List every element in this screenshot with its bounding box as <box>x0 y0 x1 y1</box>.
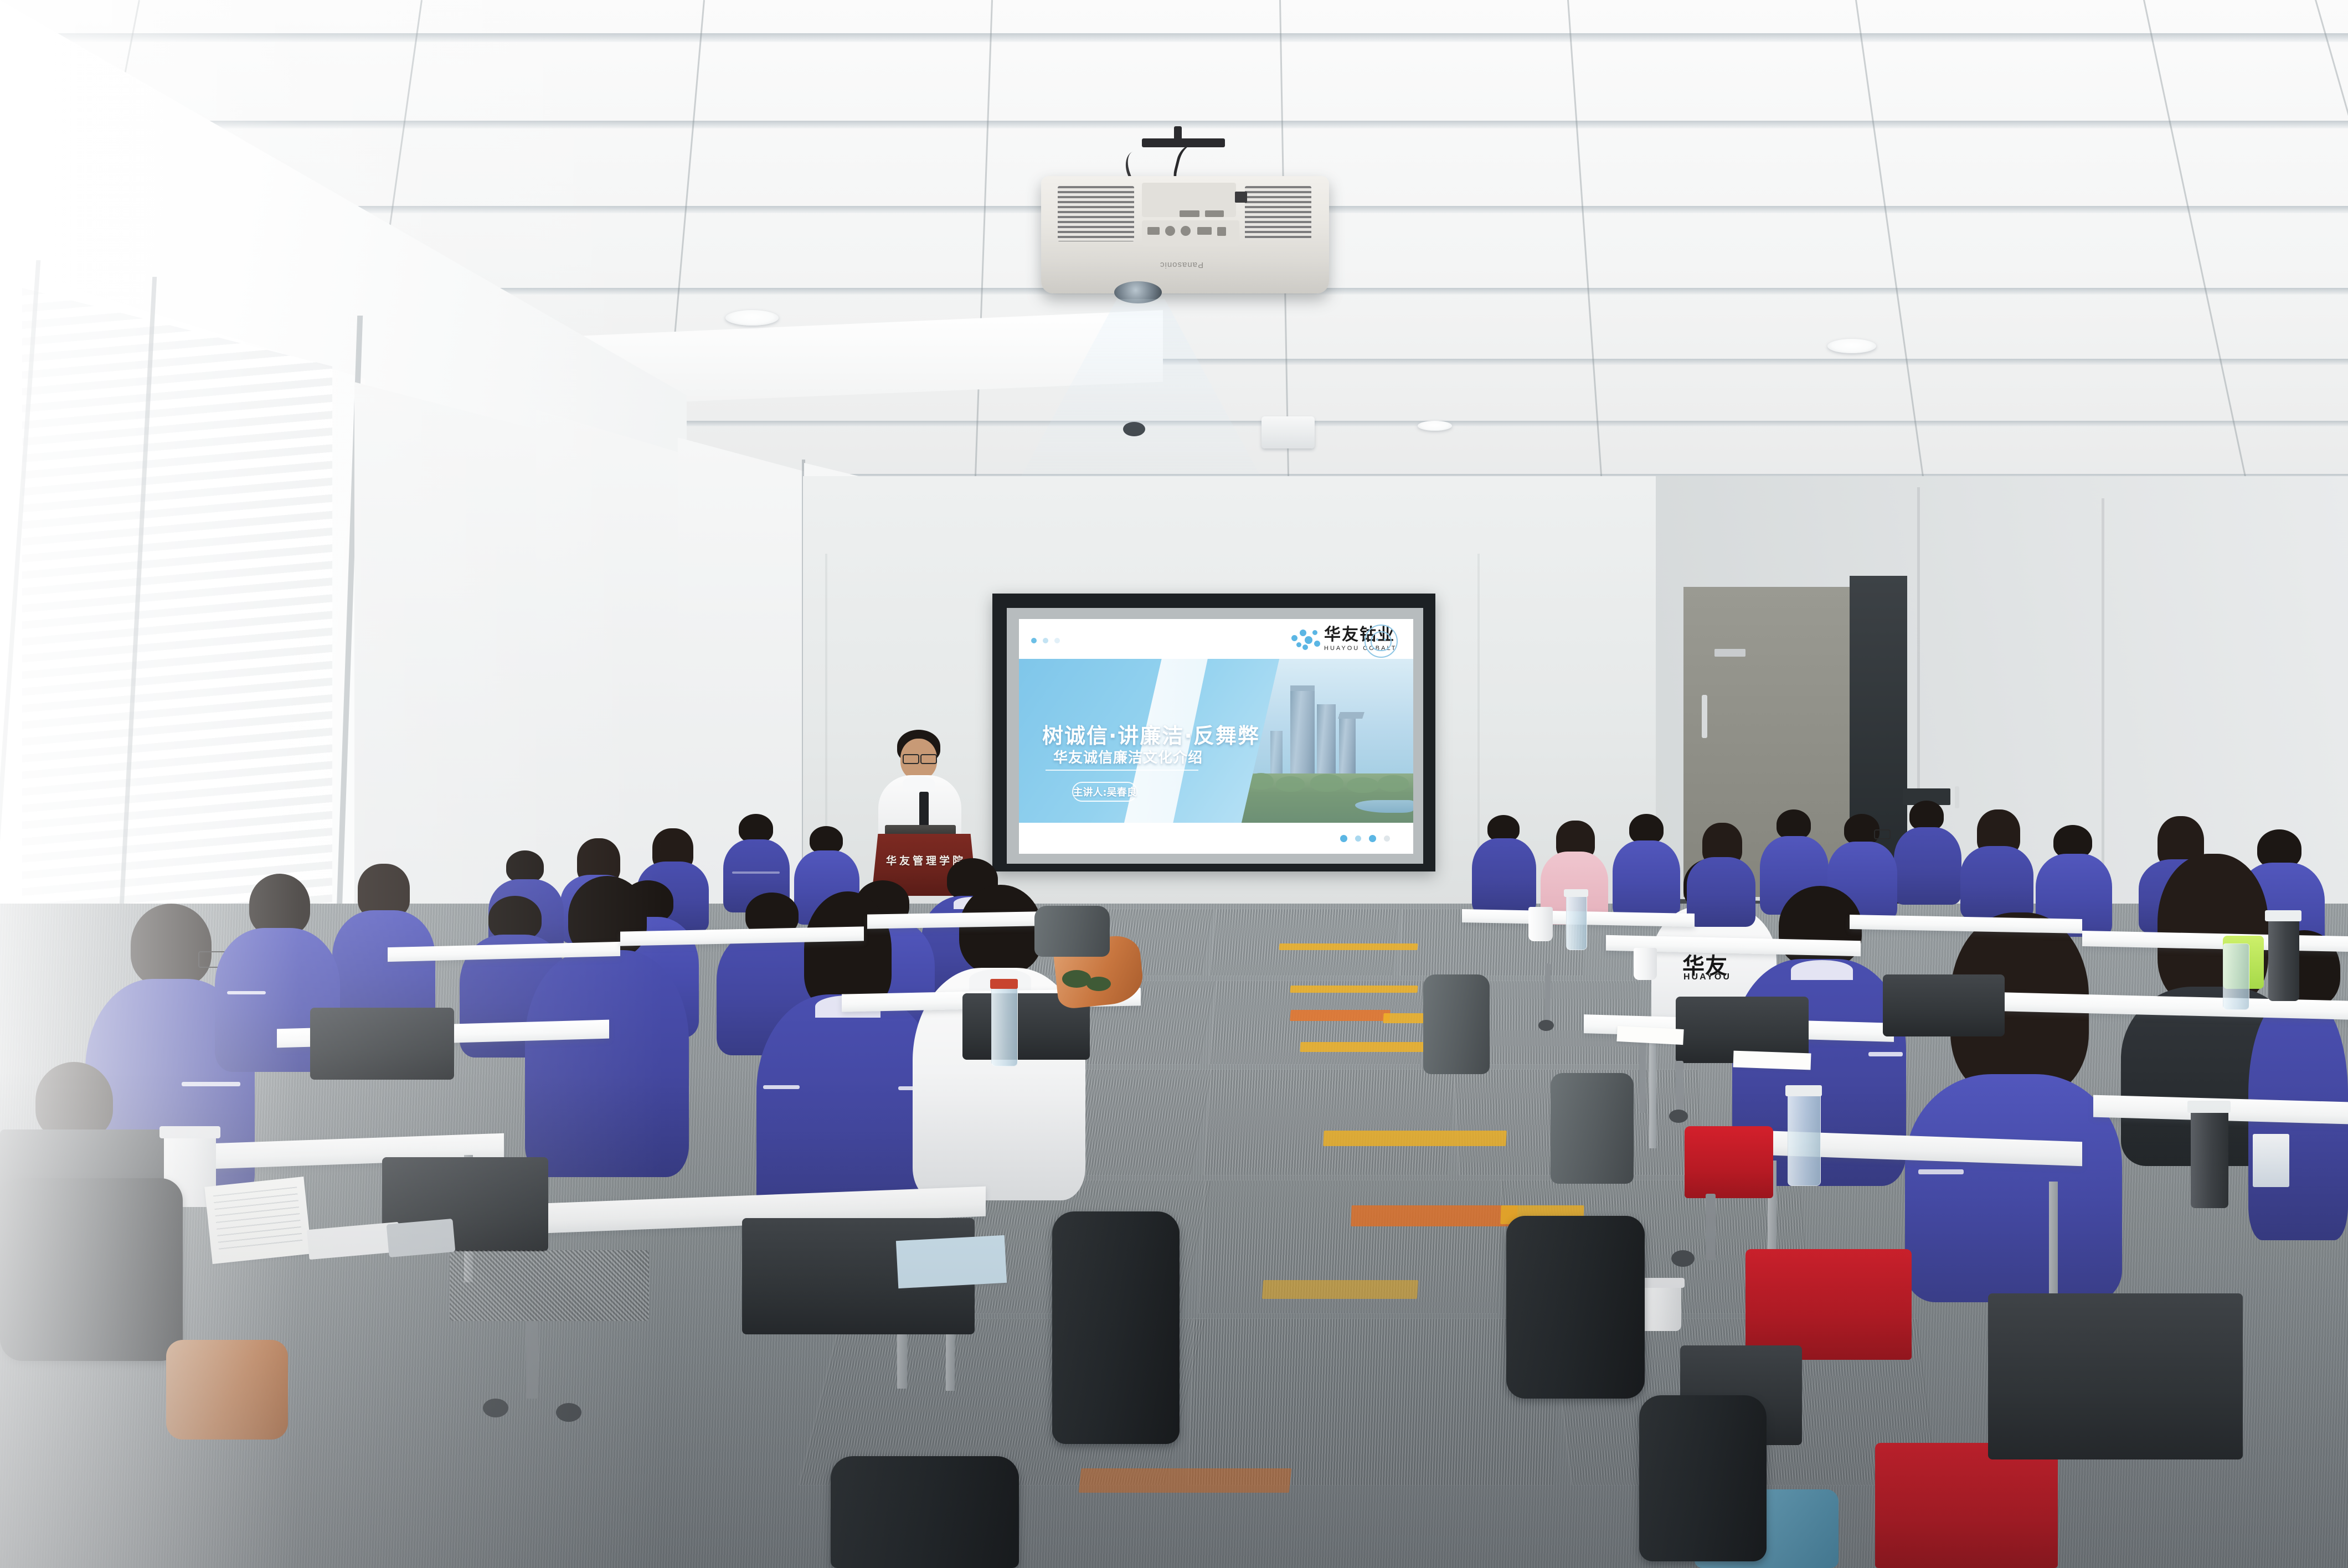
water-bottle-dark <box>2191 1108 2228 1208</box>
bottle-cap <box>1785 1085 1822 1096</box>
grey-bag <box>1034 906 1110 957</box>
tower-building <box>1290 689 1315 777</box>
podium-top-surface <box>885 825 956 835</box>
backpack <box>1506 1216 1645 1399</box>
chair-red[interactable] <box>1745 1249 1912 1360</box>
attendee <box>331 864 436 1024</box>
glasses-icon <box>1874 829 1891 839</box>
header-dot <box>1054 638 1060 643</box>
chair-post <box>526 1321 538 1399</box>
juice-carton <box>2253 1134 2289 1187</box>
chair-post <box>1639 1041 1646 1113</box>
table-leg <box>1649 1038 1656 1148</box>
slide-footer-dots <box>1340 835 1390 842</box>
footer-dot <box>1384 835 1390 842</box>
ceiling-projector: Panasonic <box>1041 176 1329 293</box>
bouquet-leaf <box>1087 977 1111 991</box>
projector-brand-label: Panasonic <box>1160 260 1203 270</box>
recessed-light <box>1418 421 1452 431</box>
tower-building <box>1270 731 1283 777</box>
bottle-cap <box>990 979 1018 989</box>
recessed-light <box>1827 339 1876 353</box>
tower-building <box>1339 714 1356 777</box>
ceiling-speaker-icon <box>1261 416 1315 448</box>
cup-lid <box>159 1126 220 1138</box>
polo-shirt <box>1905 1074 2122 1302</box>
projector-mount <box>1142 138 1225 147</box>
sleeve-piping <box>1918 1169 1964 1174</box>
shirt-collar <box>903 776 935 790</box>
water-bottle <box>1566 895 1587 950</box>
slide-building-photo <box>1242 659 1413 823</box>
carpet-accent-stripe <box>1079 1468 1292 1493</box>
smartphone <box>387 1219 456 1257</box>
paper-cup <box>1528 907 1553 941</box>
water-bottle <box>991 986 1018 1066</box>
chair-red[interactable] <box>1685 1126 1773 1198</box>
bottle-cap <box>2265 910 2301 921</box>
polo-shirt <box>525 950 689 1177</box>
glasses-icon <box>903 754 919 764</box>
attendee <box>1960 809 2035 918</box>
water-bottle <box>2223 943 2249 1010</box>
carpet-accent-stripe <box>1300 1042 1428 1052</box>
table-leg <box>2049 1182 2058 1309</box>
handout-paper <box>1733 1051 1811 1070</box>
backpack <box>1639 1395 1767 1561</box>
chair-post <box>1676 1061 1683 1114</box>
chair-caster <box>1669 1110 1688 1123</box>
footer-dot <box>1340 835 1347 842</box>
slide-divider <box>1046 770 1198 771</box>
attendee-foreground <box>1903 912 2124 1300</box>
projector-mount-arm <box>1174 126 1182 145</box>
water-bottle-dark <box>2268 918 2299 1001</box>
shirt-logo-en: HUAYOU <box>1683 972 1731 982</box>
attendee <box>1471 815 1537 915</box>
floor-bag <box>1551 1073 1634 1184</box>
conference-room-photo: Panasonic <box>0 0 2348 1568</box>
bottle-cap <box>1564 889 1588 897</box>
backpack <box>0 1178 183 1361</box>
orange-bag <box>166 1340 288 1440</box>
window-blinds <box>22 288 332 941</box>
huayou-logo-mark-icon <box>1291 628 1320 651</box>
handout-paper <box>896 1235 1007 1288</box>
chair-caster <box>556 1403 581 1422</box>
chair-post <box>1706 1194 1716 1260</box>
chair-caster <box>1538 1020 1554 1031</box>
tower-building <box>1317 704 1336 777</box>
door-handle[interactable] <box>1702 695 1707 738</box>
carpet-accent-stripe <box>1351 1205 1517 1226</box>
chair-red[interactable] <box>1875 1443 2058 1568</box>
slide-title: 树诚信·讲廉洁·反舞弊 <box>1042 719 1260 749</box>
chair-post <box>1545 963 1551 1024</box>
door-plate <box>1714 649 1745 657</box>
footer-dot <box>1369 835 1376 842</box>
carpet-accent-stripe <box>1262 1280 1418 1299</box>
water-bottle <box>1788 1093 1821 1186</box>
carpet-accent-stripe <box>1290 1010 1391 1021</box>
shirt-collar <box>1791 960 1853 980</box>
glasses-icon <box>920 754 937 764</box>
hair <box>959 885 1042 973</box>
presentation-slide: 华友钴业 HUAYOU COBALT <box>1019 619 1413 854</box>
chair-caster <box>1671 1250 1695 1267</box>
sleeve-piping <box>763 1085 800 1089</box>
hair <box>131 904 212 987</box>
front-wall-seam <box>825 554 827 864</box>
sleeve-piping <box>1868 1052 1903 1056</box>
sleeve-piping <box>182 1082 240 1086</box>
carpet-accent-stripe <box>1290 986 1418 993</box>
bottle-cap <box>2187 1101 2231 1113</box>
carpet-accent-stripe <box>1279 943 1418 950</box>
handout-paper <box>204 1177 312 1264</box>
footer-dot <box>1355 835 1361 842</box>
slide-presenter-badge: 主讲人:吴春良 <box>1072 782 1137 802</box>
slide-body: 树诚信·讲廉洁·反舞弊 华友诚信廉洁文化介绍 主讲人:吴春良 <box>1019 659 1413 823</box>
slide-footer <box>1019 823 1413 854</box>
header-dot <box>1043 638 1048 643</box>
backpack <box>1052 1211 1180 1444</box>
paper-cup <box>1634 948 1657 980</box>
floor-bag <box>1423 974 1490 1074</box>
company-seal-icon <box>1364 625 1398 658</box>
chair[interactable] <box>310 1008 454 1080</box>
chair[interactable] <box>1988 1293 2243 1459</box>
slide-header-dots <box>1031 638 1060 643</box>
header-dot <box>1031 638 1037 643</box>
backpack <box>831 1456 1019 1568</box>
carpet-accent-stripe <box>1323 1131 1506 1146</box>
chair-caster <box>483 1399 508 1417</box>
recessed-light <box>725 310 779 326</box>
chair[interactable] <box>1883 974 2005 1036</box>
slide-subtitle: 华友诚信廉洁文化介绍 <box>1053 746 1203 767</box>
hair <box>804 891 892 1008</box>
chair-mesh-seat <box>450 1250 649 1321</box>
